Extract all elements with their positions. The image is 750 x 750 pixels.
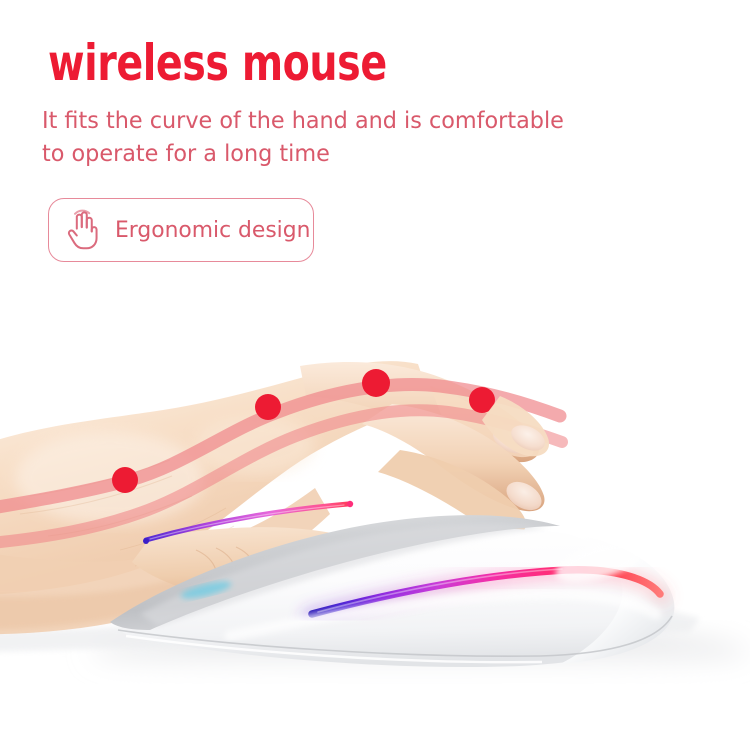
ergonomic-design-badge: Ergonomic design — [48, 198, 314, 262]
contour-point-2 — [255, 394, 281, 420]
contour-point-3 — [362, 369, 390, 397]
two-finger-tap-hand-icon — [61, 207, 107, 253]
page-subtitle: It fits the curve of the hand and is com… — [42, 104, 612, 170]
contour-point-1 — [112, 467, 138, 493]
product-banner: wireless mouse It fits the curve of the … — [0, 0, 750, 750]
wireless-mouse — [110, 501, 674, 667]
hand-and-mouse-illustration — [0, 300, 750, 750]
page-title: wireless mouse — [48, 38, 387, 88]
badge-label: Ergonomic design — [115, 217, 310, 243]
product-photo — [0, 300, 750, 750]
